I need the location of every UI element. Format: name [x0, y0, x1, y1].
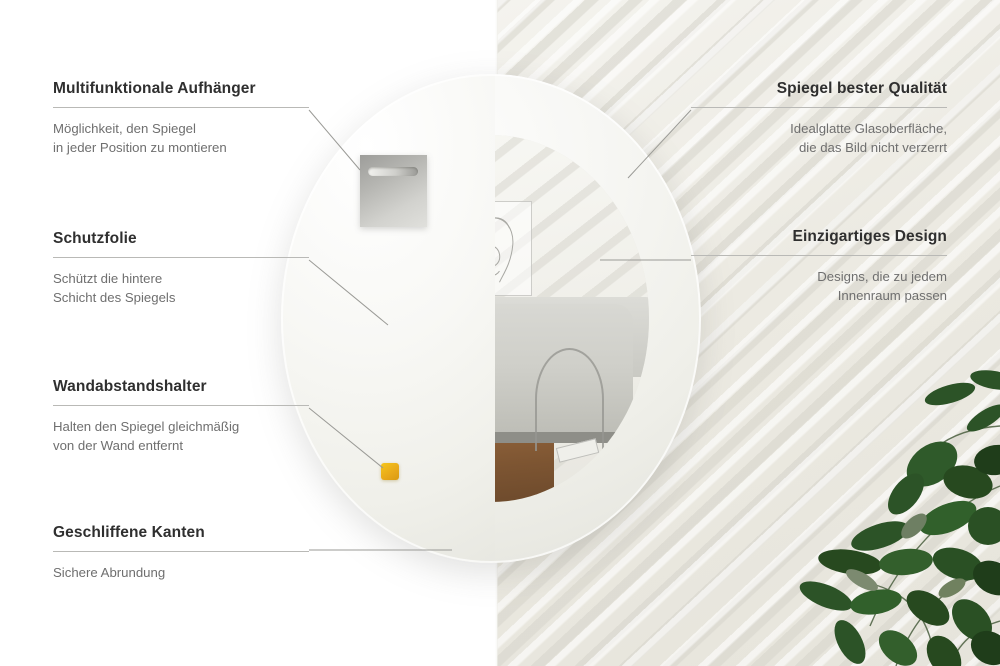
callout-title: Spiegel bester Qualität — [691, 80, 947, 98]
callout-multifunktionale-aufhaenger[interactable]: Multifunktionale Aufhänger Möglichkeit, … — [53, 80, 309, 157]
wall-spacer-yellow — [381, 463, 399, 480]
callout-rule — [53, 107, 309, 108]
callout-title: Multifunktionale Aufhänger — [53, 80, 309, 98]
callout-einzigartiges-design[interactable]: Einzigartiges Design Designs, die zu jed… — [691, 228, 947, 305]
callout-schutzfolie[interactable]: Schutzfolie Schützt die hintere Schicht … — [53, 230, 309, 307]
callout-title: Einzigartiges Design — [691, 228, 947, 246]
callout-rule — [53, 257, 309, 258]
callout-description: Möglichkeit, den Spiegel in jeder Positi… — [53, 119, 309, 157]
infographic-canvas: Multifunktionale Aufhänger Möglichkeit, … — [0, 0, 1000, 666]
callout-title: Schutzfolie — [53, 230, 309, 248]
callout-rule — [53, 551, 309, 552]
mirror-body — [281, 74, 701, 563]
callout-description: Idealglatte Glasoberfläche, die das Bild… — [691, 119, 947, 157]
callout-rule — [691, 107, 947, 108]
callout-spiegel-bester-qualitaet[interactable]: Spiegel bester Qualität Idealglatte Glas… — [691, 80, 947, 157]
hanger-keyhole-slot — [368, 167, 418, 176]
round-mirror — [281, 74, 701, 563]
callout-wandabstandshalter[interactable]: Wandabstandshalter Halten den Spiegel gl… — [53, 378, 309, 455]
callout-description: Schützt die hintere Schicht des Spiegels — [53, 269, 309, 307]
callout-description: Sichere Abrundung — [53, 563, 309, 582]
foreground-plant-ficus — [700, 366, 1000, 666]
callout-title: Geschliffene Kanten — [53, 524, 309, 542]
callout-rule — [53, 405, 309, 406]
hanger-plate — [360, 155, 427, 227]
frame-bevel — [281, 74, 701, 563]
callout-title: Wandabstandshalter — [53, 378, 309, 396]
callout-description: Halten den Spiegel gleichmäßig von der W… — [53, 417, 309, 455]
callout-rule — [691, 255, 947, 256]
callout-description: Designs, die zu jedem Innenraum passen — [691, 267, 947, 305]
callout-geschliffene-kanten[interactable]: Geschliffene Kanten Sichere Abrundung — [53, 524, 309, 582]
